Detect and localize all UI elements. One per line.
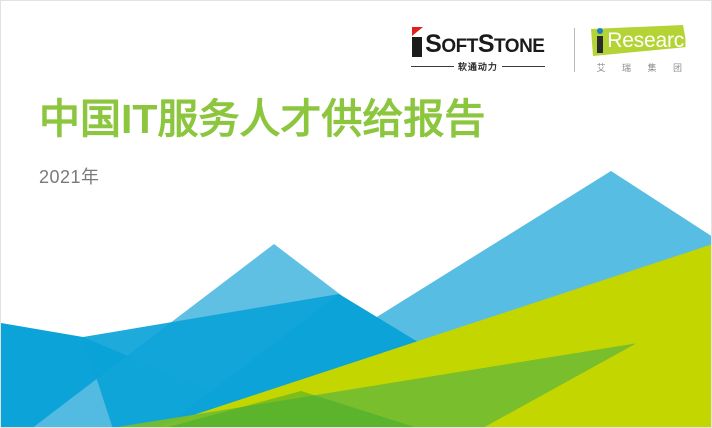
isoftstone-subline: 软通动力 (411, 60, 544, 73)
isoftstone-i-glyph (411, 27, 424, 57)
isoftstone-rule-right (502, 66, 545, 67)
isoftstone-rule-left (411, 66, 454, 67)
isoftstone-chinese-name: 软通动力 (458, 60, 498, 73)
logo-bar: SOFTSTONE 软通动力 Research 艾 瑞 集 (411, 25, 689, 74)
isoftstone-wordmark: SOFTSTONE (411, 27, 544, 57)
isoftstone-i-stem (412, 37, 422, 57)
iresearch-i-glyph (596, 28, 605, 53)
isoftstone-s2: S (478, 30, 494, 58)
isoftstone-s1: S (425, 30, 441, 58)
iresearch-logo: Research 艾 瑞 集 团 (589, 25, 689, 74)
isoftstone-tone: TONE (494, 36, 544, 57)
isoftstone-red-accent-icon (412, 27, 423, 36)
iresearch-badge: Research (591, 25, 687, 56)
isoftstone-logo: SOFTSTONE 软通动力 (411, 27, 560, 73)
page-subtitle: 2021年 (39, 163, 485, 189)
logo-divider (574, 28, 575, 72)
title-block: 中国IT服务人才供给报告 2021年 (39, 96, 485, 189)
isoftstone-caps: SOFTSTONE (425, 32, 544, 57)
iresearch-wordmark: Research (607, 29, 695, 53)
title-slide: SOFTSTONE 软通动力 Research 艾 瑞 集 (0, 0, 712, 428)
iresearch-chinese-name: 艾 瑞 集 团 (589, 61, 689, 74)
iresearch-blue-dot-icon (597, 28, 603, 34)
page-title: 中国IT服务人才供给报告 (39, 96, 485, 143)
iresearch-i-stem (597, 36, 603, 53)
isoftstone-oft: OFT (441, 36, 478, 57)
